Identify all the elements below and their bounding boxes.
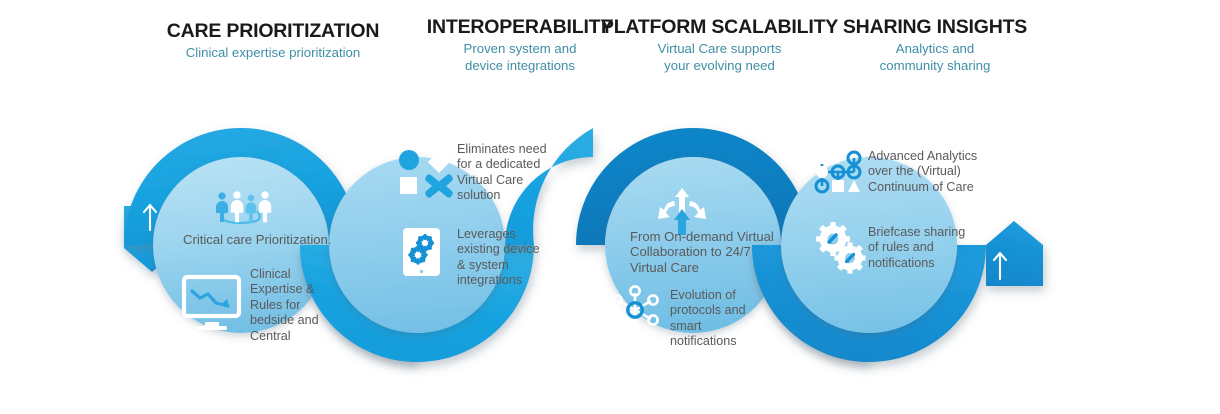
node-2-item-2-label: Leverages existing device & system integ… [457, 227, 549, 289]
process-flow-diagram [0, 0, 1220, 414]
tablet-gears-icon [403, 228, 440, 276]
node-2-item-1-label: Eliminates need for a dedicated Virtual … [457, 142, 547, 204]
end-tail [986, 221, 1043, 286]
node-3-item-1-label: From On-demand Virtual Collaboration to … [630, 229, 782, 275]
node-3-item-2-label: Evolution of protocols and smart notific… [670, 288, 755, 350]
node-4-item-2-label: Briefcase sharing of rules and notificat… [868, 225, 972, 271]
node-1-item-1-label: Critical care Prioritization. [183, 232, 363, 247]
arrow-connector-2-up-icon [565, 230, 577, 256]
analytics-nodes-icon [816, 152, 860, 192]
node-1-item-2-label: Clinical Expertise & Rules for bedside a… [250, 267, 332, 344]
node-4-item-1-label: Advanced Analytics over the (Virtual) Co… [868, 149, 984, 195]
